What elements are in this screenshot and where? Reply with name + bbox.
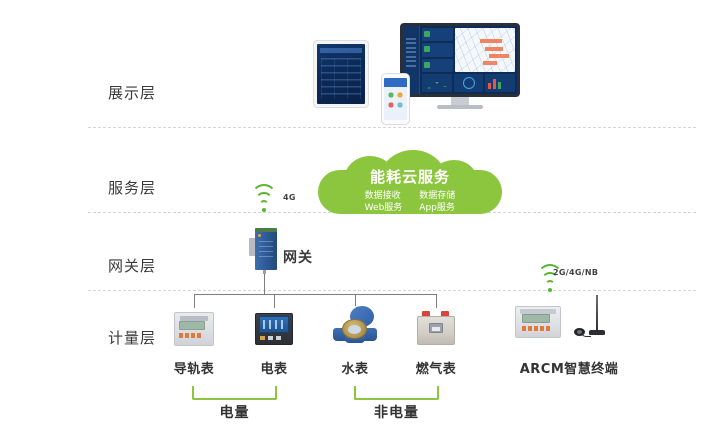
connector-drop-din-rail — [194, 294, 195, 308]
arcm-terminal-display — [522, 314, 550, 323]
layer-label-service: 服务层 — [108, 177, 188, 198]
gateway-device-icon — [249, 228, 279, 272]
dashboard-map-widget — [455, 28, 515, 72]
gas-meter-index-panel — [429, 323, 443, 333]
dashboard-bottom-row — [420, 74, 517, 94]
dashboard-main — [420, 26, 517, 94]
gas-meter-icon — [414, 310, 458, 348]
wifi-dot — [262, 208, 266, 212]
cloud-services-left: 数据接收 Web服务 — [365, 190, 403, 214]
terminal-network-label: 2G/4G/NB — [553, 268, 598, 277]
layer-separator-display-service — [88, 127, 696, 128]
cloud-service-item: 数据接收 — [365, 190, 403, 202]
cloud-service-item: Web服务 — [365, 202, 403, 214]
stat-card — [422, 59, 453, 72]
meter-label-electric: 电表 — [235, 358, 313, 377]
monitor-stand-base — [437, 105, 483, 109]
meter-label-din-rail: 导轨表 — [155, 358, 233, 377]
meter-label-gas: 燃气表 — [397, 358, 475, 377]
connector-drop-water — [355, 294, 356, 306]
water-meter-dial — [342, 319, 367, 339]
antenna-rod — [596, 295, 598, 331]
group-bracket-electricity — [192, 386, 277, 400]
monitor-stand-neck — [451, 97, 469, 105]
layer-separator-gateway-metering — [88, 290, 696, 291]
gateway-network-label: 4G — [283, 193, 296, 202]
architecture-diagram: 展示层 服务层 网关层 计量层 — [0, 0, 715, 443]
tablet-screen — [317, 44, 365, 104]
din-meter-display — [179, 321, 205, 330]
meter-label-water: 水表 — [316, 358, 394, 377]
stat-card — [422, 43, 453, 56]
dashboard-chart-widget — [422, 74, 452, 92]
panel-meter-buttons — [260, 336, 288, 340]
cloud-services-right: 数据存储 App服务 — [419, 190, 455, 214]
terminal-label-arcm: ARCM智慧终端 — [509, 358, 629, 377]
wifi-dot — [548, 288, 552, 292]
connector-gateway-trunk — [264, 274, 265, 295]
stat-card — [422, 28, 453, 41]
arcm-terminal-icon — [513, 304, 563, 340]
cloud-service-item: App服务 — [419, 202, 455, 214]
group-label-non-electricity: 非电量 — [354, 402, 439, 422]
connector-bus-horizontal — [194, 294, 436, 295]
arcm-terminal-terminals — [522, 326, 550, 331]
dashboard-gauge-widget — [454, 74, 484, 92]
monitor-screen — [403, 26, 517, 94]
gateway-led-indicator — [258, 234, 261, 237]
panel-electric-meter-icon — [252, 310, 296, 348]
cloud-title: 能耗云服务 — [318, 166, 502, 187]
dashboard-top-row — [420, 26, 517, 74]
antenna-base — [589, 330, 605, 335]
din-rail-meter-icon — [172, 310, 216, 348]
tablet-device-icon — [313, 40, 369, 108]
connector-drop-electric — [274, 294, 275, 308]
cloud-service-columns: 数据接收 Web服务 数据存储 App服务 — [318, 190, 502, 214]
group-bracket-non-electricity — [354, 386, 439, 400]
water-meter-icon — [333, 306, 377, 346]
smartphone-device-icon — [381, 73, 410, 125]
energy-cloud-service: 能耗云服务 数据接收 Web服务 数据存储 App服务 — [318, 152, 502, 214]
wifi-signal-icon — [251, 192, 277, 212]
smartphone-screen — [384, 78, 407, 120]
desktop-monitor-icon — [400, 23, 520, 109]
din-meter-terminals — [179, 333, 205, 338]
cloud-service-item: 数据存储 — [419, 190, 455, 202]
gateway-label: 网关 — [283, 247, 313, 267]
dashboard-bar-widget — [485, 74, 515, 92]
antenna-connector — [574, 328, 585, 336]
monitor-bezel — [400, 23, 520, 97]
panel-meter-display — [259, 316, 289, 333]
group-label-electricity: 电量 — [192, 402, 277, 422]
cloud-text-group: 能耗云服务 数据接收 Web服务 数据存储 App服务 — [318, 152, 502, 214]
layer-label-gateway: 网关层 — [108, 255, 188, 276]
antenna-icon — [578, 295, 612, 341]
layer-label-display: 展示层 — [108, 82, 188, 103]
gateway-body — [255, 232, 277, 270]
dashboard-stat-cards — [422, 28, 453, 72]
connector-drop-gas — [436, 294, 437, 308]
